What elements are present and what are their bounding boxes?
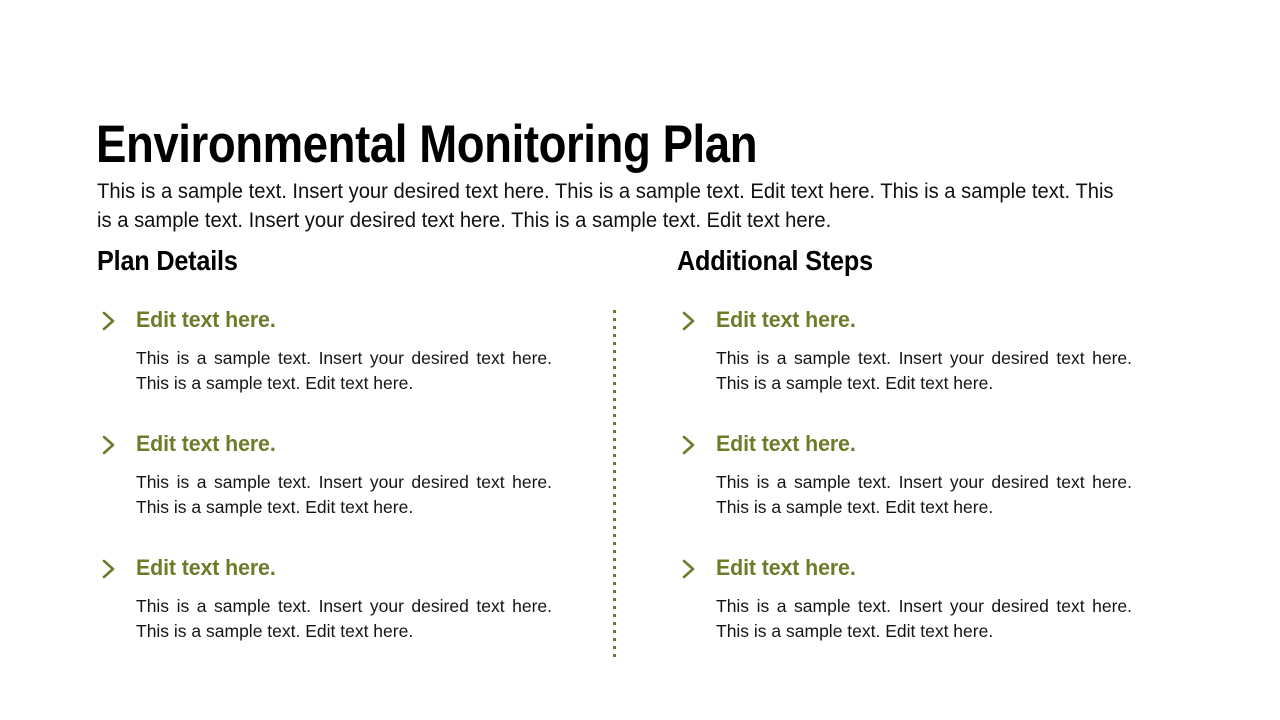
item-list-additional-steps: Edit text here. This is a sample text. I…: [677, 307, 1177, 644]
list-item[interactable]: Edit text here. This is a sample text. I…: [97, 307, 597, 396]
page-title: Environmental Monitoring Plan: [96, 114, 1042, 176]
column-heading-additional-steps: Additional Steps: [677, 243, 1127, 279]
list-item-heading: Edit text here.: [136, 555, 583, 581]
slide-subtitle: This is a sample text. Insert your desir…: [97, 177, 1122, 235]
dotted-vertical-divider: [613, 310, 616, 658]
slide-canvas: Environmental Monitoring Plan This is a …: [0, 0, 1280, 720]
chevron-right-icon: [98, 309, 120, 333]
chevron-right-icon: [678, 433, 700, 457]
list-item-body: This is a sample text. Insert your desir…: [136, 594, 552, 644]
list-item-heading: Edit text here.: [716, 431, 1163, 457]
list-item-heading: Edit text here.: [716, 555, 1163, 581]
column-plan-details: Plan Details Edit text here. This is a s…: [97, 243, 597, 644]
list-item[interactable]: Edit text here. This is a sample text. I…: [677, 307, 1177, 396]
list-item[interactable]: Edit text here. This is a sample text. I…: [97, 431, 597, 520]
item-list-plan-details: Edit text here. This is a sample text. I…: [97, 307, 597, 644]
list-item-heading: Edit text here.: [136, 431, 583, 457]
list-item-heading: Edit text here.: [716, 307, 1163, 333]
chevron-right-icon: [98, 557, 120, 581]
list-item-body: This is a sample text. Insert your desir…: [716, 346, 1132, 396]
chevron-right-icon: [678, 557, 700, 581]
list-item-body: This is a sample text. Insert your desir…: [716, 470, 1132, 520]
list-item[interactable]: Edit text here. This is a sample text. I…: [97, 555, 597, 644]
list-item-body: This is a sample text. Insert your desir…: [136, 346, 552, 396]
column-heading-plan-details: Plan Details: [97, 243, 547, 279]
column-additional-steps: Additional Steps Edit text here. This is…: [677, 243, 1177, 644]
list-item-body: This is a sample text. Insert your desir…: [136, 470, 552, 520]
chevron-right-icon: [678, 309, 700, 333]
list-item-heading: Edit text here.: [136, 307, 583, 333]
list-item[interactable]: Edit text here. This is a sample text. I…: [677, 555, 1177, 644]
list-item-body: This is a sample text. Insert your desir…: [716, 594, 1132, 644]
chevron-right-icon: [98, 433, 120, 457]
list-item[interactable]: Edit text here. This is a sample text. I…: [677, 431, 1177, 520]
